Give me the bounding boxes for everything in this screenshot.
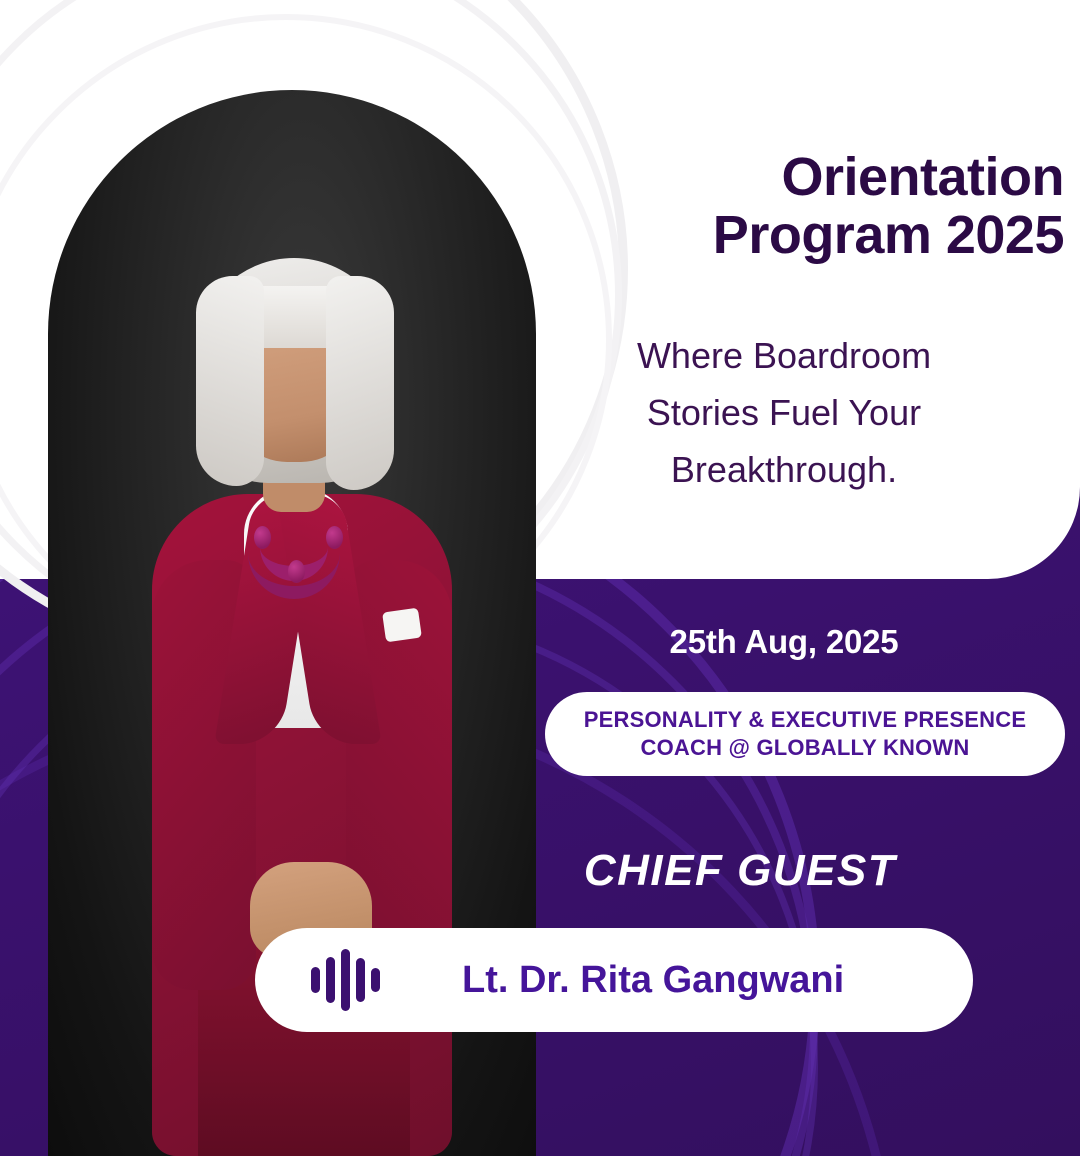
- page-title: Orientation Program 2025: [546, 148, 1064, 265]
- portrait-pocket-square: [382, 608, 422, 643]
- poster-canvas: Orientation Program 2025 Where Boardroom…: [0, 0, 1080, 1156]
- portrait-hair-right: [326, 276, 394, 490]
- event-date: 25th Aug, 2025: [546, 623, 1022, 661]
- chief-guest-label: CHIEF GUEST: [500, 846, 980, 896]
- portrait-hair-left: [196, 276, 264, 486]
- headline-line-2: Program 2025: [546, 206, 1064, 264]
- role-line-2: COACH @ GLOBALLY KNOWN: [641, 734, 970, 762]
- portrait-necklace-bead: [254, 526, 271, 549]
- portrait-necklace-bead: [326, 526, 343, 549]
- guest-name-badge: Lt. Dr. Rita Gangwani: [255, 928, 973, 1032]
- portrait-necklace-bead: [288, 560, 305, 583]
- subtitle-line-3: Breakthrough.: [560, 442, 1008, 499]
- role-line-1: PERSONALITY & EXECUTIVE PRESENCE: [584, 706, 1026, 734]
- audio-waveform-icon: [311, 950, 380, 1010]
- subtitle-line-1: Where Boardroom: [560, 328, 1008, 385]
- headline-line-1: Orientation: [546, 148, 1064, 206]
- subtitle: Where Boardroom Stories Fuel Your Breakt…: [560, 328, 1008, 499]
- role-badge: PERSONALITY & EXECUTIVE PRESENCE COACH @…: [545, 692, 1065, 776]
- subtitle-line-2: Stories Fuel Your: [560, 385, 1008, 442]
- guest-name: Lt. Dr. Rita Gangwani: [462, 959, 844, 1002]
